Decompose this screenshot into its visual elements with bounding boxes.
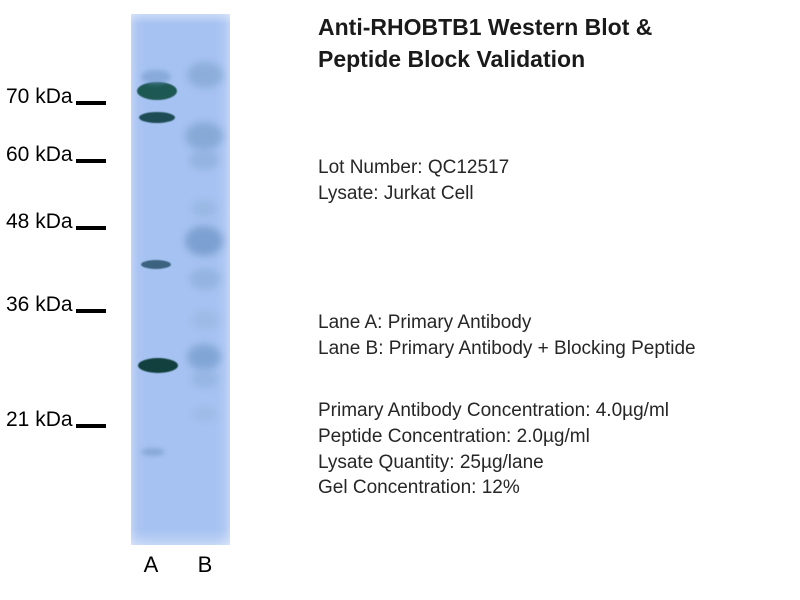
- marker-tick-48kda: [76, 226, 106, 230]
- marker-label-36kda: 36 kDa: [6, 293, 73, 317]
- peptide-concentration-line: Peptide Concentration: 2.0µg/ml: [318, 424, 669, 450]
- marker-tick-70kda: [76, 101, 106, 105]
- lysate-line: Lysate: Jurkat Cell: [318, 181, 509, 207]
- marker-tick-21kda: [76, 424, 106, 428]
- blot-lane-b: [183, 14, 227, 545]
- lane-label-a: A: [131, 552, 171, 578]
- marker-tick-60kda: [76, 159, 106, 163]
- smear-23kda: [191, 370, 219, 388]
- figure-title: Anti-RHOBTB1 Western Blot & Peptide Bloc…: [318, 12, 788, 75]
- blot-lane-a: [135, 14, 179, 545]
- band-70kda-main: [137, 82, 177, 100]
- sample-info-block: Lot Number: QC12517 Lysate: Jurkat Cell: [318, 155, 509, 207]
- smear-44kda: [185, 226, 223, 256]
- marker-label-70kda: 70 kDa: [6, 85, 73, 109]
- marker-label-21kda: 21 kDa: [6, 408, 73, 432]
- gel-concentration-line: Gel Concentration: 12%: [318, 475, 669, 501]
- figure-title-line-2: Peptide Block Validation: [318, 44, 788, 76]
- blot-membrane-image: [131, 14, 230, 545]
- band-70kda-upper-smear: [141, 70, 171, 84]
- band-38kda: [141, 260, 171, 269]
- lysate-quantity-line: Lysate Quantity: 25µg/lane: [318, 450, 669, 476]
- primary-antibody-concentration-line: Primary Antibody Concentration: 4.0µg/ml: [318, 398, 669, 424]
- lane-legend-a: Lane A: Primary Antibody: [318, 310, 696, 336]
- smear-20kda: [191, 406, 217, 422]
- smear-38kda: [189, 268, 221, 290]
- lane-legend-block: Lane A: Primary Antibody Lane B: Primary…: [318, 310, 696, 362]
- smear-26kda: [187, 344, 221, 370]
- marker-48kda: 48 kDa: [6, 205, 131, 239]
- smear-48kda: [191, 200, 217, 218]
- marker-70kda: 70 kDa: [6, 80, 131, 114]
- experimental-conditions-block: Primary Antibody Concentration: 4.0µg/ml…: [318, 398, 669, 501]
- marker-tick-36kda: [76, 309, 106, 313]
- annotation-panel: Anti-RHOBTB1 Western Blot & Peptide Bloc…: [318, 0, 800, 600]
- lane-legend-b: Lane B: Primary Antibody + Blocking Pept…: [318, 336, 696, 362]
- smear-30kda: [191, 310, 219, 330]
- western-blot-figure: 70 kDa 60 kDa 48 kDa 36 kDa 21 kDa: [0, 0, 800, 600]
- smear-60kda: [185, 122, 223, 150]
- marker-label-60kda: 60 kDa: [6, 143, 73, 167]
- lane-label-b: B: [185, 552, 225, 578]
- band-25kda-main: [138, 358, 178, 373]
- band-18kda-faint: [141, 448, 165, 456]
- smear-55kda: [189, 150, 219, 170]
- marker-60kda: 60 kDa: [6, 138, 131, 172]
- smear-top: [187, 62, 223, 88]
- molecular-weight-marker-ladder: 70 kDa 60 kDa 48 kDa 36 kDa 21 kDa: [0, 0, 131, 600]
- figure-title-line-1: Anti-RHOBTB1 Western Blot &: [318, 12, 788, 44]
- band-64kda: [139, 112, 175, 123]
- marker-label-48kda: 48 kDa: [6, 210, 73, 234]
- lot-number-line: Lot Number: QC12517: [318, 155, 509, 181]
- marker-36kda: 36 kDa: [6, 288, 131, 322]
- marker-21kda: 21 kDa: [6, 403, 131, 437]
